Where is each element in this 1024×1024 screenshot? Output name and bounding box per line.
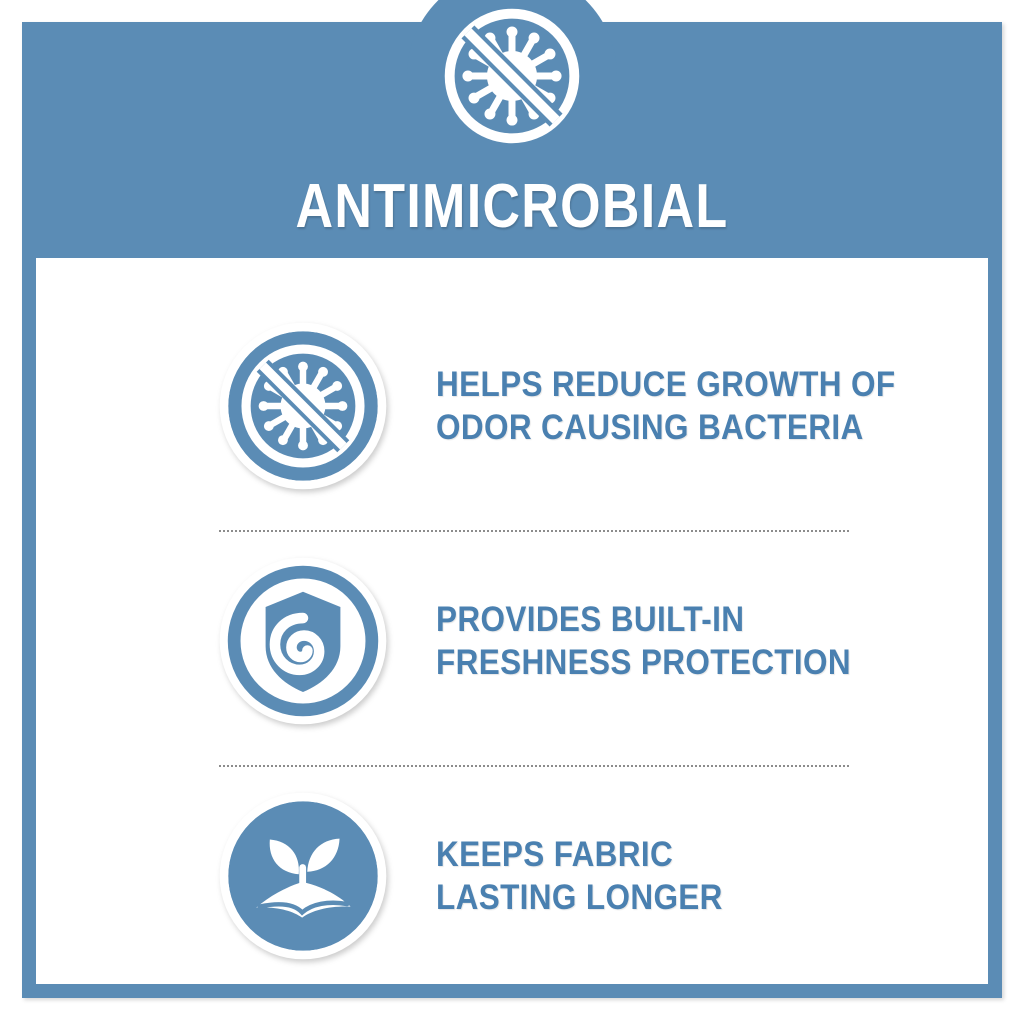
feature-text: KEEPS FABRIC LASTING LONGER (436, 833, 723, 919)
no-germ-icon (436, 0, 588, 152)
no-germ-icon (218, 321, 388, 491)
features-content: HELPS REDUCE GROWTH OF ODOR CAUSING BACT… (36, 258, 988, 984)
row-divider (219, 765, 849, 768)
header-banner: ANTIMICROBIAL (22, 22, 1002, 258)
page-title: ANTIMICROBIAL (100, 172, 923, 242)
shield-swirl-icon (218, 556, 388, 726)
infographic-panel: ANTIMICROBIAL (22, 22, 1002, 998)
feature-line-2: ODOR CAUSING BACTERIA (436, 406, 895, 449)
feature-line-1: PROVIDES BUILT-IN (436, 598, 851, 641)
feature-row: PROVIDES BUILT-IN FRESHNESS PROTECTION (36, 541, 988, 741)
feature-text: HELPS REDUCE GROWTH OF ODOR CAUSING BACT… (436, 363, 895, 449)
leaf-sprout-icon (218, 791, 388, 961)
feature-line-1: KEEPS FABRIC (436, 833, 723, 876)
feature-text: PROVIDES BUILT-IN FRESHNESS PROTECTION (436, 598, 851, 684)
row-divider (219, 530, 849, 533)
feature-line-2: LASTING LONGER (436, 876, 723, 919)
feature-row: KEEPS FABRIC LASTING LONGER (36, 776, 988, 976)
feature-line-1: HELPS REDUCE GROWTH OF (436, 363, 895, 406)
feature-line-2: FRESHNESS PROTECTION (436, 641, 851, 684)
feature-row: HELPS REDUCE GROWTH OF ODOR CAUSING BACT… (36, 306, 988, 506)
